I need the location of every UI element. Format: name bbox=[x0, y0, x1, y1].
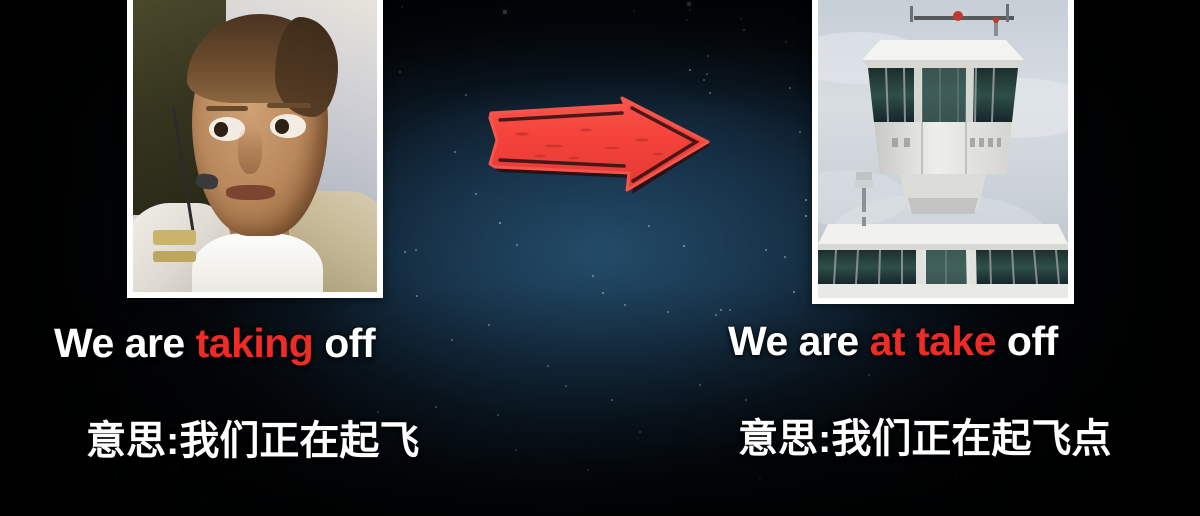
right-english-caption: We are at take off bbox=[728, 318, 1058, 365]
pilot-photo bbox=[133, 0, 377, 292]
left-english-caption: We are taking off bbox=[54, 320, 375, 367]
right-caption-highlight: at take bbox=[870, 318, 996, 364]
pilot-eyebrow-left bbox=[206, 106, 247, 111]
red-right-arrow-icon bbox=[482, 96, 718, 194]
pilot-photo-frame bbox=[127, 0, 383, 298]
pilot-mouth bbox=[226, 185, 275, 200]
pilot-pupil-right bbox=[275, 119, 290, 134]
control-tower-illustration bbox=[818, 0, 1068, 298]
right-caption-suffix: off bbox=[996, 318, 1058, 364]
pilot-shirt-collar bbox=[192, 233, 324, 292]
right-chinese-caption: 意思:我们正在起飞点 bbox=[738, 406, 1111, 464]
left-caption-highlight: taking bbox=[196, 320, 314, 366]
left-chinese-caption: 意思:我们正在起飞 bbox=[86, 408, 419, 466]
control-tower-svg bbox=[818, 0, 1068, 298]
pilot-eyebrow-right bbox=[267, 103, 311, 108]
pilot-nose bbox=[238, 126, 262, 173]
pilot-pupil-left bbox=[214, 122, 229, 137]
right-caption-prefix: We are bbox=[728, 318, 870, 364]
left-caption-suffix: off bbox=[313, 320, 375, 366]
pilot-scene-illustration bbox=[133, 0, 377, 292]
left-caption-prefix: We are bbox=[54, 320, 196, 366]
meme-canvas: We are taking off 意思:我们正在起飞 We are at ta… bbox=[0, 0, 1200, 516]
tower-photo-frame bbox=[812, 0, 1074, 304]
tower-photo bbox=[818, 0, 1068, 298]
pilot-epaulet-stripe-1 bbox=[153, 230, 197, 245]
pilot-epaulet-stripe-2 bbox=[153, 251, 197, 263]
